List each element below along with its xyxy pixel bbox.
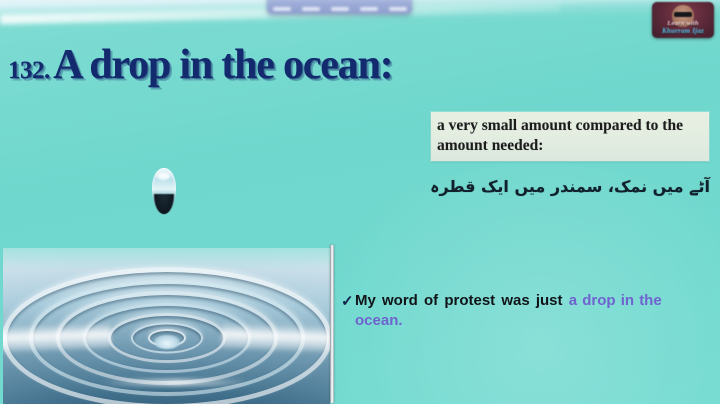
water-drop-image <box>152 168 176 214</box>
blurred-toolbar[interactable] <box>267 0 412 14</box>
drop-shadow <box>154 194 174 214</box>
vertical-divider <box>330 245 334 403</box>
watermark-line-2: Khurram Ijaz <box>652 27 714 35</box>
toolbar-item[interactable] <box>302 7 320 11</box>
example-sentence-body: My word of protest was just a drop in th… <box>341 291 713 331</box>
example-plain-text: My word of protest was just <box>355 292 569 309</box>
watermark-line-1: Learn with <box>652 20 714 27</box>
definition-box: a very small amount compared to the amou… <box>431 112 709 161</box>
sunglasses-icon <box>674 12 692 17</box>
ripple-top-fade <box>3 248 330 404</box>
page-title: 132. A drop in the ocean: <box>8 41 718 89</box>
toolbar-item[interactable] <box>360 7 378 11</box>
check-icon: ✓ <box>341 292 354 312</box>
water-ripple-image <box>3 248 330 404</box>
title-number: 132. <box>8 57 50 84</box>
drop-highlight <box>157 172 170 180</box>
toolbar-item[interactable] <box>389 7 407 11</box>
channel-watermark-logo: Learn with Khurram Ijaz <box>652 2 714 38</box>
title-phrase: A drop in the ocean: <box>53 42 392 88</box>
toolbar-item[interactable] <box>331 7 349 11</box>
example-sentence: ✓ My word of protest was just a drop in … <box>341 291 713 331</box>
example-end-punctuation: . <box>398 312 402 329</box>
toolbar-item[interactable] <box>273 7 291 11</box>
slide-canvas: Learn with Khurram Ijaz 132. A drop in t… <box>0 0 720 404</box>
definition-text: a very small amount compared to the amou… <box>437 117 683 154</box>
urdu-translation: آٹے میں نمک، سمندر میں ایک قطرہ <box>430 177 710 196</box>
